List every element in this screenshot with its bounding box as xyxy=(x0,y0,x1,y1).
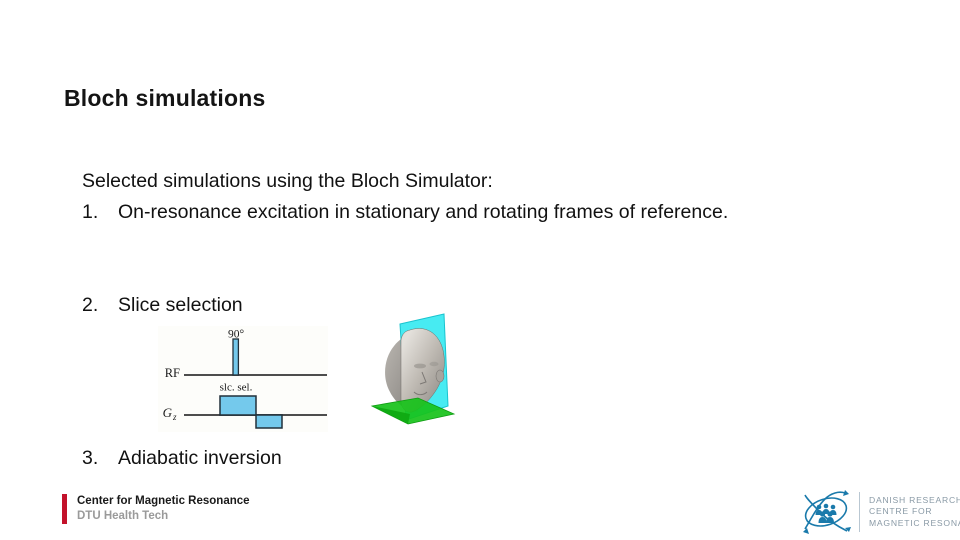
list-item-1-marker: 1. xyxy=(82,197,118,228)
list-item-3-label: Adiabatic inversion xyxy=(118,443,282,474)
cmr-accent-bar xyxy=(62,494,67,524)
drcmr-line-2: CENTRE FOR xyxy=(869,506,960,518)
drcmr-logo-lockup: DANISH RESEARCH CENTRE FOR MAGNETIC RESO… xyxy=(795,487,960,537)
list-item-3-marker: 3. xyxy=(82,443,118,474)
list-item-2-marker: 2. xyxy=(82,290,118,321)
head-slice-svg xyxy=(370,310,456,435)
rephasing-gradient-lobe xyxy=(256,415,282,428)
cmr-subtitle: DTU Health Tech xyxy=(77,509,250,524)
list-item-1-label: On-resonance excitation in stationary an… xyxy=(118,197,728,228)
head-slice-figure xyxy=(370,310,456,435)
people-cluster-icon xyxy=(816,504,837,523)
drcmr-line-3: MAGNETIC RESONANCE xyxy=(869,518,960,530)
page-title: Bloch simulations xyxy=(64,85,265,112)
intro-text: Selected simulations using the Bloch Sim… xyxy=(82,166,922,197)
drcmr-line-1: DANISH RESEARCH xyxy=(869,495,960,507)
gradient-channel-subscript: z xyxy=(172,412,177,422)
drcmr-orbit-icon xyxy=(795,487,857,537)
slice-select-gradient-lobe xyxy=(220,396,256,415)
ear-shape xyxy=(436,370,444,382)
list-item-1: 1. On-resonance excitation in stationary… xyxy=(82,197,922,228)
pulse-sequence-diagram: 90° RF slc. sel. G z xyxy=(158,326,328,432)
drcmr-divider xyxy=(859,492,860,532)
brow-shadow xyxy=(430,362,439,366)
slide-body: Selected simulations using the Bloch Sim… xyxy=(82,166,922,228)
cmr-logo-lockup: Center for Magnetic Resonance DTU Health… xyxy=(62,494,250,524)
cmr-title: Center for Magnetic Resonance xyxy=(77,494,250,509)
rf-channel-label: RF xyxy=(165,366,180,380)
slice-select-label: slc. sel. xyxy=(220,382,253,394)
list-item-3: 3. Adiabatic inversion xyxy=(82,443,282,474)
list-item-2-label: Slice selection xyxy=(118,290,243,321)
gradient-channel-label: G xyxy=(163,405,173,420)
cmr-logo-text: Center for Magnetic Resonance DTU Health… xyxy=(77,494,250,524)
eye-shadow xyxy=(414,364,426,369)
drcmr-logo-text: DANISH RESEARCH CENTRE FOR MAGNETIC RESO… xyxy=(869,495,960,530)
pulse-sequence-svg: 90° RF slc. sel. G z xyxy=(158,326,328,432)
flip-angle-label: 90° xyxy=(228,329,245,341)
list-item-2: 2. Slice selection xyxy=(82,290,243,321)
rf-pulse-bar xyxy=(233,339,238,375)
